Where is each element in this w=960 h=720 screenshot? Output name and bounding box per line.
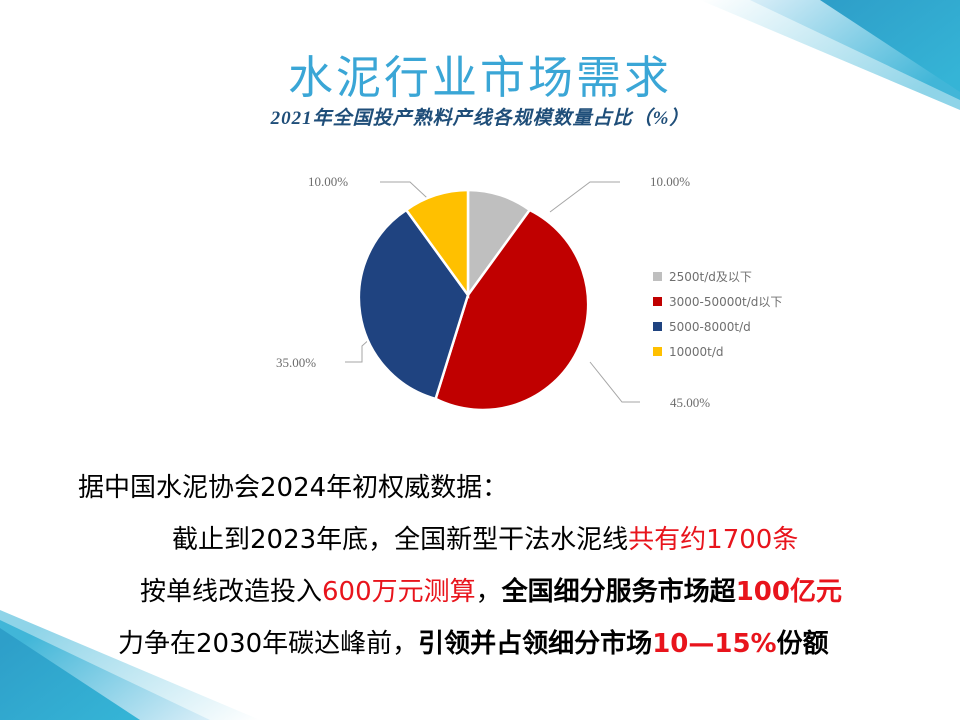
legend-swatch-icon — [653, 322, 662, 331]
leader-line-gray — [550, 182, 620, 212]
body-line-4-emphasis: 引领并占领细分市场 — [418, 629, 652, 659]
body-line-2: 截止到2023年底，全国新型干法水泥线共有约1700条 — [0, 514, 960, 566]
legend-item-label: 3000-50000t/d以下 — [669, 293, 782, 310]
legend-swatch-icon — [653, 347, 662, 356]
pie-chart: 10.00% 10.00% 35.00% 45.00% 2500t/d及以下 3… — [250, 150, 870, 440]
pie-label-gray: 10.00% — [650, 174, 690, 189]
body-line-4-highlight-share: 10—15% — [652, 629, 776, 659]
body-line-4: 力争在2030年碳达峰前，引领并占领细分市场10—15%份额 — [0, 618, 960, 670]
legend-item-label: 2500t/d及以下 — [669, 268, 752, 285]
legend-item-2[interactable]: 5000-8000t/d — [653, 316, 838, 337]
body-line-3-comma: ， — [476, 577, 502, 607]
legend-item-1[interactable]: 3000-50000t/d以下 — [653, 291, 838, 312]
leader-line-red — [590, 362, 640, 402]
legend-swatch-icon — [653, 272, 662, 281]
body-line-1-text: 据中国水泥协会2024年初权威数据： — [78, 473, 508, 503]
legend-item-label: 10000t/d — [669, 345, 724, 359]
body-line-3-highlight-market: 100亿元 — [736, 577, 842, 607]
body-line-1: 据中国水泥协会2024年初权威数据： — [0, 462, 960, 514]
chart-subtitle: 2021年全国投产熟料产线各规模数量占比（%） — [0, 106, 960, 132]
pie-label-gold: 10.00% — [308, 174, 348, 189]
body-line-4-suffix: 份额 — [777, 629, 829, 659]
pie-label-blue: 35.00% — [276, 355, 316, 370]
page-title: 水泥行业市场需求 — [0, 52, 960, 104]
slide-canvas: 水泥行业市场需求 2021年全国投产熟料产线各规模数量占比（%） 10.00% … — [0, 0, 960, 720]
body-line-3: 按单线改造投入600万元测算，全国细分服务市场超100亿元 — [0, 566, 960, 618]
legend-swatch-icon — [653, 297, 662, 306]
body-line-3-emphasis: 全国细分服务市场超 — [502, 577, 736, 607]
body-line-2-text: 截止到2023年底，全国新型干法水泥线 — [172, 525, 628, 555]
body-line-3-text: 按单线改造投入 — [140, 577, 322, 607]
legend-item-3[interactable]: 10000t/d — [653, 341, 838, 362]
title-block: 水泥行业市场需求 2021年全国投产熟料产线各规模数量占比（%） — [0, 52, 960, 132]
body-line-3-highlight-cost: 600万元测算 — [322, 577, 476, 607]
pie-label-red: 45.00% — [670, 395, 710, 410]
body-line-2-highlight: 共有约1700条 — [628, 525, 798, 555]
body-line-4-text: 力争在2030年碳达峰前， — [118, 629, 418, 659]
body-text-block: 据中国水泥协会2024年初权威数据： 截止到2023年底，全国新型干法水泥线共有… — [0, 462, 960, 670]
chart-legend: 2500t/d及以下 3000-50000t/d以下 5000-8000t/d … — [653, 266, 838, 366]
legend-item-label: 5000-8000t/d — [669, 320, 751, 334]
legend-item-0[interactable]: 2500t/d及以下 — [653, 266, 838, 287]
